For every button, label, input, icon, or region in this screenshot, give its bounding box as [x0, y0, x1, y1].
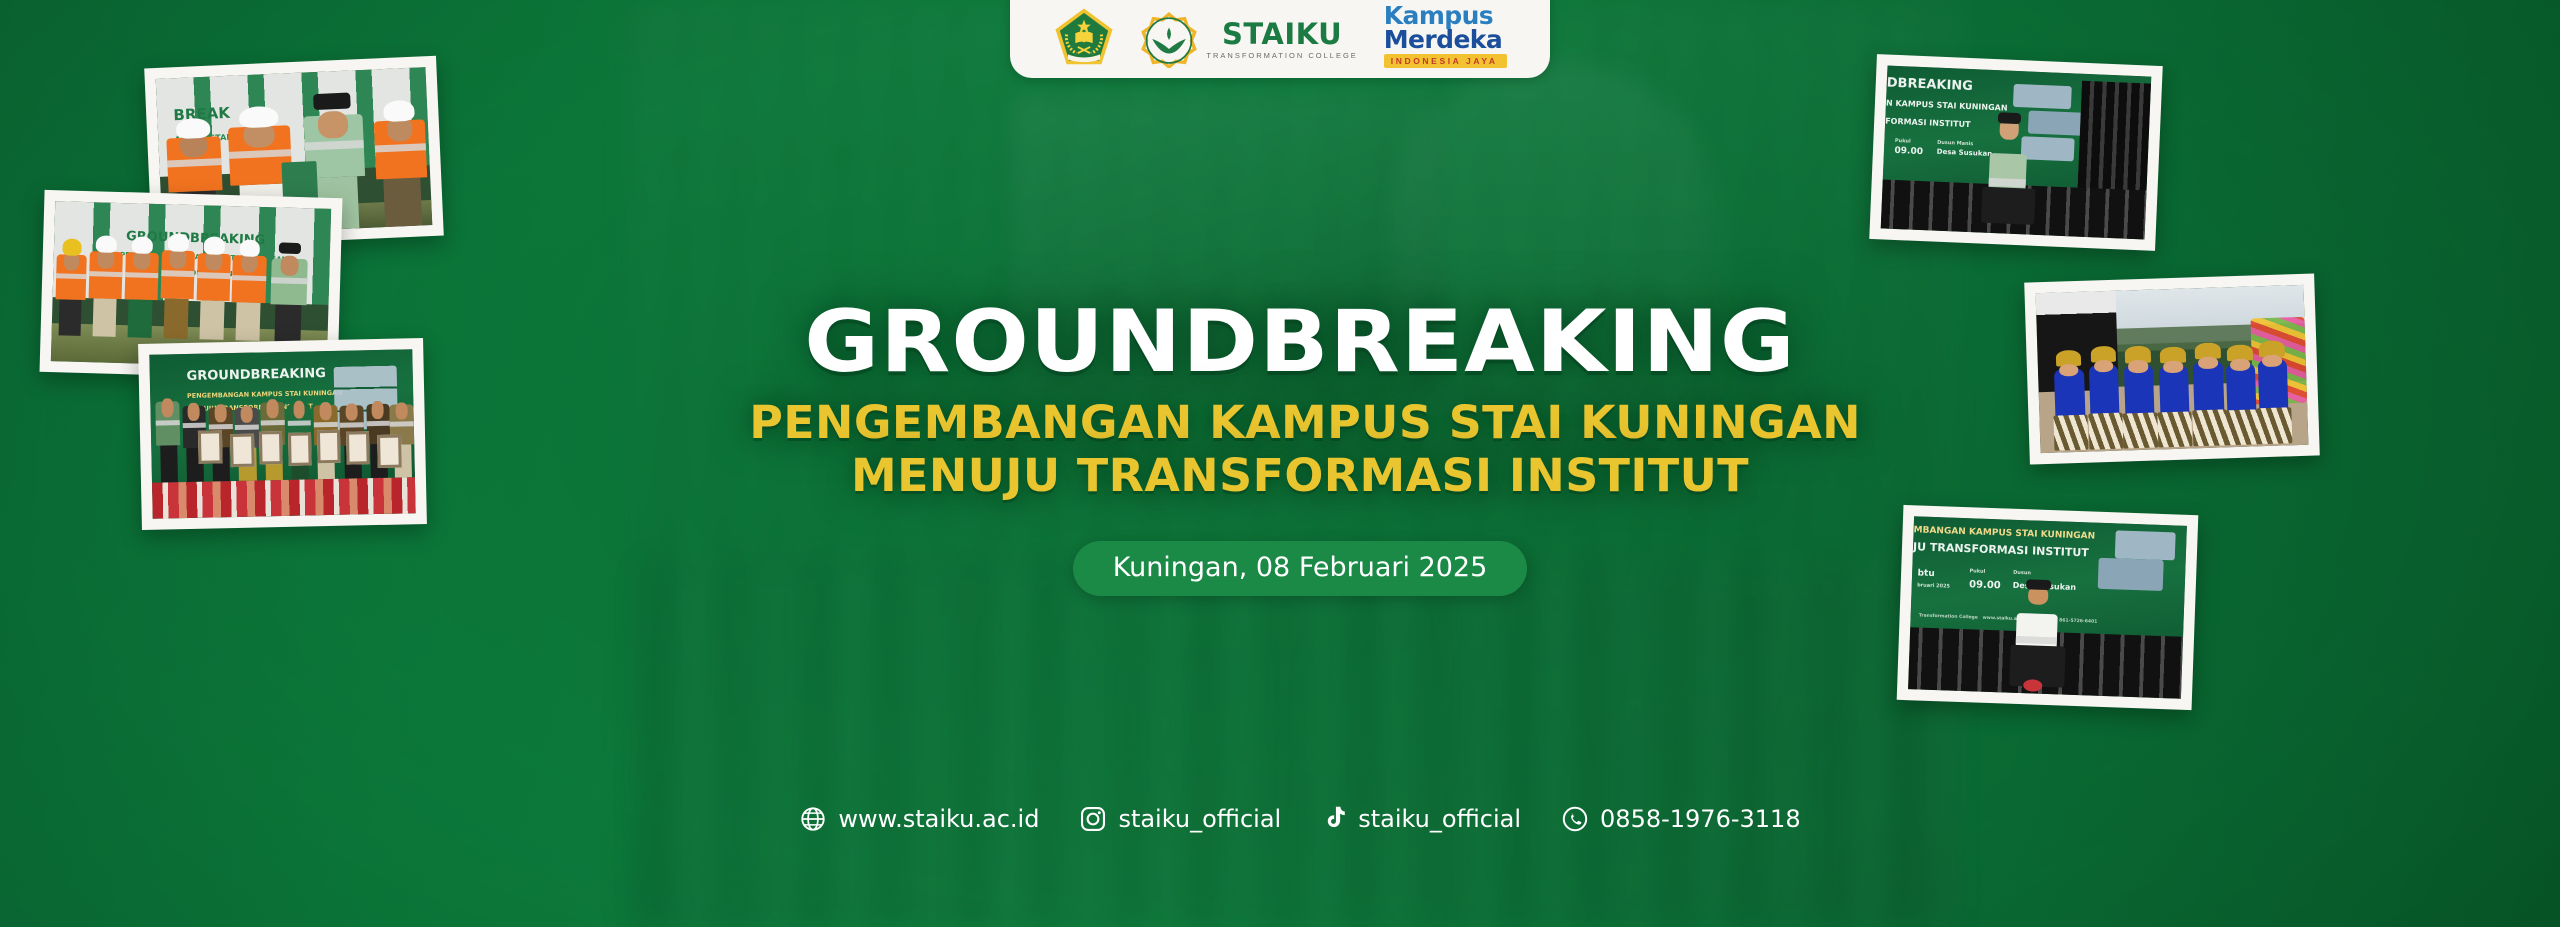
photo-speaker-mc-image: DBREAKING N KAMPUS STAI KUNINGAN FORMASI… — [1881, 66, 2152, 240]
instagram-icon — [1079, 805, 1107, 833]
kampus-merdeka-logo: Kampus Merdeka INDONESIA JAYA — [1384, 4, 1507, 68]
event-banner: BREAK AMPUS STAI KUNINGAN FORMASI — [0, 0, 2560, 927]
contact-instagram-label: staiku_official — [1118, 805, 1281, 833]
staiku-tagline: TRANSFORMATION COLLEGE — [1206, 52, 1357, 60]
contact-website-label: www.staiku.ac.id — [838, 805, 1039, 833]
tiktok-icon — [1321, 805, 1347, 833]
headline-block: GROUNDBREAKING PENGEMBANGAN KAMPUS STAI … — [760, 300, 1840, 596]
subtitle-line-1: PENGEMBANGAN KAMPUS STAI KUNINGAN — [749, 398, 1851, 448]
contact-instagram[interactable]: staiku_official — [1079, 805, 1281, 833]
page-title: GROUNDBREAKING — [728, 300, 1873, 384]
photo-awards: GROUNDBREAKING PENGEMBANGAN KAMPUS STAI … — [138, 338, 427, 530]
staiku-logo: STAIKU TRANSFORMATION COLLEGE — [1141, 12, 1357, 68]
whatsapp-icon — [1561, 805, 1589, 833]
photo-speech-image: MBANGAN KAMPUS STAI KUNINGAN JU TRANSFOR… — [1908, 516, 2187, 698]
globe-icon — [799, 805, 827, 833]
contact-tiktok[interactable]: staiku_official — [1321, 805, 1521, 833]
staiku-wordmark: STAIKU — [1222, 20, 1342, 49]
photo-dancers-image — [2036, 285, 2309, 453]
contact-whatsapp[interactable]: 0858-1976-3118 — [1561, 805, 1801, 833]
staiku-mark-icon — [1141, 12, 1197, 68]
contact-whatsapp-label: 0858-1976-3118 — [1600, 805, 1801, 833]
kampus-merdeka-line2: Merdeka — [1384, 28, 1502, 51]
photo-dancers — [2024, 273, 2320, 464]
photo-speech: MBANGAN KAMPUS STAI KUNINGAN JU TRANSFOR… — [1897, 505, 2199, 710]
kemenag-logo — [1053, 6, 1115, 68]
contact-tiktok-label: staiku_official — [1358, 805, 1521, 833]
contact-strip: www.staiku.ac.id staiku_official staiku_… — [760, 805, 1840, 833]
photo-awards-image: GROUNDBREAKING PENGEMBANGAN KAMPUS STAI … — [149, 349, 415, 518]
logo-bar: STAIKU TRANSFORMATION COLLEGE Kampus Mer… — [1010, 0, 1550, 78]
contact-website[interactable]: www.staiku.ac.id — [799, 805, 1039, 833]
kampus-merdeka-ribbon: INDONESIA JAYA — [1384, 54, 1507, 68]
subtitle-line-2: MENUJU TRANSFORMASI INSTITUT — [749, 451, 1851, 501]
kampus-merdeka-line1: Kampus — [1384, 4, 1493, 27]
date-badge: Kuningan, 08 Februari 2025 — [1073, 541, 1528, 596]
photo-speaker-mc: DBREAKING N KAMPUS STAI KUNINGAN FORMASI… — [1869, 54, 2162, 251]
